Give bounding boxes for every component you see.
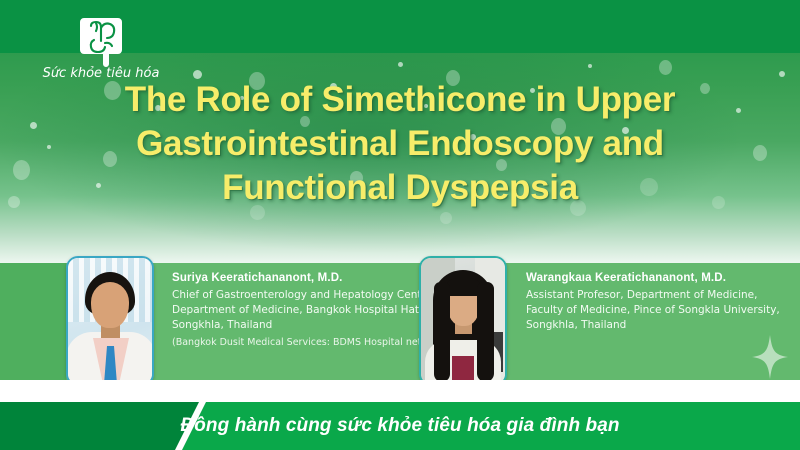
speaker-photo-1 <box>66 256 154 386</box>
speaker-name: Suriya Keeratichananont, M.D. <box>172 272 422 284</box>
speaker-affiliation-line: Chief of Gastroenterology and Hepatology… <box>172 288 422 303</box>
speaker-info-1: Suriya Keeratichananont, M.D. Chief of G… <box>172 272 422 350</box>
speaker-photo-2 <box>419 256 507 386</box>
title-line-1: The Role of Simethicone in Upper <box>0 78 800 122</box>
speaker-info-2: Warangkaıa Keeratichananont, M.D. Assist… <box>526 272 788 333</box>
speaker-affiliation-line: Faculty of Medicine, Pince of Songkla Un… <box>526 303 788 318</box>
brand-logo: Sức khỏe tiêu hóa <box>26 10 176 82</box>
speaker-affiliation-line: Department of Medicine, Bangkok Hospital… <box>172 303 422 318</box>
page-title: The Role of Simethicone in Upper Gastroi… <box>0 78 800 210</box>
photo-hair <box>477 282 494 382</box>
title-line-2: Gastrointestinal Endoscopy and <box>0 122 800 166</box>
intestine-colon-icon <box>74 10 128 68</box>
female-doctor-portrait <box>421 258 505 384</box>
speaker-name: Warangkaıa Keeratichananont, M.D. <box>526 272 788 284</box>
speakers-band-accent <box>0 263 66 380</box>
title-line-3: Functional Dyspepsia <box>0 166 800 210</box>
white-separator <box>0 380 800 402</box>
sparkle-star-icon <box>752 335 788 379</box>
presentation-slide: Sức khỏe tiêu hóa The Role of Simethicon… <box>0 0 800 450</box>
footer-tagline: Đồng hành cùng sức khỏe tiêu hóa gia đìn… <box>0 402 800 450</box>
photo-face <box>91 282 129 328</box>
photo-hair <box>434 282 450 382</box>
speaker-affiliation-line: Assistant Profesor, Department of Medici… <box>526 288 788 303</box>
male-doctor-portrait <box>68 258 152 384</box>
speaker-note: (Bangkok Dusit Medical Services: BDMS Ho… <box>172 335 422 350</box>
speaker-affiliation-line: Songkhla, Thailand <box>526 318 788 333</box>
speaker-affiliation-line: Songkhla, Thailand <box>172 318 422 333</box>
